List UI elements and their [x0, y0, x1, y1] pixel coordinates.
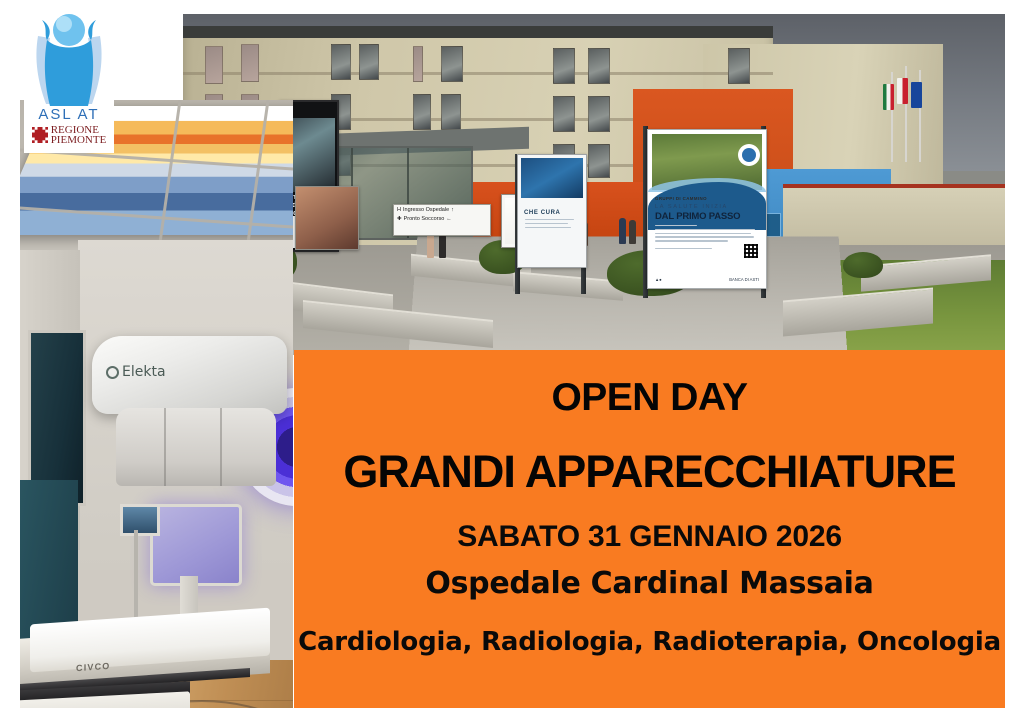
europe-flag [911, 82, 922, 108]
page-title: OPEN DAY [551, 376, 747, 420]
window [588, 144, 610, 178]
cross-icon: ✚ [397, 216, 402, 223]
window [553, 96, 575, 132]
window [588, 48, 610, 84]
italy-flag [883, 84, 894, 110]
direction-sign-row: H Ingresso Ospedale ↑ [394, 205, 490, 214]
sponsor-label: BANCA DI ASTI [729, 277, 759, 282]
direction-sign-row: ✚ Pronto Soccorso ← [394, 214, 490, 223]
window [588, 96, 610, 132]
direction-sign: H Ingresso Ospedale ↑ ✚ Pronto Soccorso … [393, 204, 491, 236]
window [205, 46, 223, 84]
window [441, 46, 463, 82]
window [331, 44, 351, 80]
pedestrian [439, 234, 446, 258]
organization-badge-icon [738, 144, 760, 166]
logo-text-block: ASL AT REGIONE PIEMONTE [24, 106, 114, 145]
billboard-image [521, 158, 583, 198]
window [441, 94, 461, 130]
roof-line [183, 26, 773, 38]
regione-piemonte-label: REGIONE PIEMONTE [51, 125, 107, 145]
elekta-logo-icon [106, 366, 119, 379]
panel-seam [164, 408, 166, 486]
billboard-che-cura: CHE CURA [517, 154, 587, 268]
window [241, 44, 259, 82]
iv-pole [134, 530, 138, 630]
room-monitor-screen [120, 504, 160, 536]
billboard-bodytext [525, 219, 579, 230]
arrow-left-icon: ← [446, 216, 452, 223]
wall-poster [295, 186, 359, 250]
asl-figure-icon [24, 8, 114, 116]
billboard-footer: ▲● BANCA DI ASTI [655, 277, 759, 282]
facade-band [183, 72, 773, 75]
billboard-headline: CHE CURA [524, 210, 560, 216]
window [728, 48, 750, 84]
window [413, 46, 423, 82]
hospital-icon: H [397, 207, 401, 214]
radiotherapy-linac-photo: Elekta CIVCO [20, 100, 293, 708]
qr-code-icon [744, 244, 758, 258]
imaging-panel [150, 504, 242, 586]
asl-at-label: ASL AT [24, 106, 114, 123]
partner-logo-icon: ▲● [655, 277, 662, 282]
announcement-date: SABATO 31 GENNAIO 2026 [457, 520, 842, 554]
hedge [843, 252, 883, 278]
panel-seam [220, 408, 222, 486]
announcement-subtitle: GRANDI APPARECCHIATURE [343, 446, 955, 498]
pedestrian [619, 218, 626, 244]
announcement-venue: Ospedale Cardinal Massaia [425, 566, 873, 601]
announcement-panel: OPEN DAY GRANDI APPARECCHIATURE SABATO 3… [294, 350, 1005, 708]
announcement-departments: Cardiologia, Radiologia, Radioterapia, O… [298, 627, 1001, 657]
direction-label-emergency: Pronto Soccorso [404, 216, 445, 223]
window [413, 94, 431, 130]
hospital-entrance-photo: pondi tardi, da con enzione H Ingresso O… [183, 14, 1005, 355]
poster-root: pondi tardi, da con enzione H Ingresso O… [0, 0, 1024, 726]
pedestrian [629, 220, 636, 244]
billboard-headline: DAL PRIMO PASSO [655, 211, 740, 222]
direction-label-hospital: Ingresso Ospedale [403, 207, 449, 214]
window [553, 48, 575, 84]
elekta-brand-label: Elekta [122, 364, 166, 380]
regione-piemonte-row: REGIONE PIEMONTE [24, 125, 114, 145]
window [359, 44, 379, 80]
piemonte-flag [897, 78, 908, 104]
asl-at-regione-piemonte-logo: ASL AT REGIONE PIEMONTE [24, 8, 114, 153]
linac-gantry-body [116, 408, 276, 486]
billboard-kicker: GRUPPI DI CAMMINO [655, 196, 707, 201]
billboard-subhead: LA SALUTE INIZIA [655, 204, 728, 210]
regione-line-2: PIEMONTE [51, 135, 107, 145]
elekta-brand-mark: Elekta [106, 364, 166, 380]
billboard-dal-primo-passo: GRUPPI DI CAMMINO LA SALUTE INIZIA DAL P… [647, 129, 767, 289]
regione-piemonte-cross-icon [32, 127, 48, 143]
arrow-up-icon: ↑ [451, 207, 454, 214]
